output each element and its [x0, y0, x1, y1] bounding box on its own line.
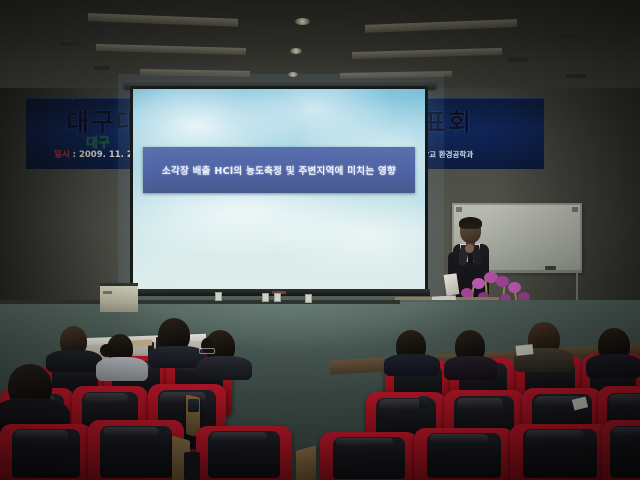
ceiling-speaker-icon — [295, 18, 310, 25]
orchid-bloom — [508, 282, 521, 293]
baseboard — [0, 300, 400, 304]
wall-shadow-left — [0, 88, 150, 313]
ceiling-vent — [94, 66, 110, 70]
ceiling-vent — [14, 12, 30, 16]
seat[interactable] — [510, 424, 610, 480]
orchid-bloom — [472, 278, 485, 289]
seat[interactable] — [414, 428, 514, 480]
audience-papers — [516, 344, 534, 356]
ceiling-light — [96, 44, 246, 55]
ceiling-vent — [508, 58, 528, 62]
seat[interactable] — [88, 420, 184, 480]
whiteboard-marker — [545, 266, 556, 270]
seat-highlight — [609, 394, 640, 406]
presenter-hair — [459, 217, 482, 229]
ceiling-speaker-icon — [290, 48, 302, 54]
ceiling-vent — [566, 74, 586, 78]
wall-outlet — [305, 294, 312, 303]
seat[interactable] — [602, 420, 640, 480]
orchid-bloom — [496, 276, 509, 287]
seat-highlight — [526, 430, 584, 439]
ceiling-light — [340, 71, 452, 79]
whiteboard-corner — [572, 207, 578, 212]
ceiling-light — [88, 13, 238, 27]
seat-tablet-arm[interactable] — [296, 445, 316, 480]
wall-outlet — [215, 292, 222, 301]
wall-outlet — [262, 293, 269, 302]
audience-hair-bun — [100, 344, 113, 357]
audience-glasses — [199, 348, 215, 354]
audience-shoulders — [384, 354, 440, 376]
projection-screen: 소각장 배출 HCl의 농도측정 및 주변지역에 미치는 영향 — [130, 86, 428, 292]
seat[interactable] — [0, 424, 92, 480]
ceiling-light — [352, 48, 502, 59]
seat-highlight — [430, 434, 488, 443]
slide-surface: 소각장 배출 HCl의 농도측정 및 주변지역에 미치는 영향 — [133, 89, 425, 289]
audience-shoulders — [586, 354, 640, 378]
radiator-label — [103, 291, 112, 294]
auditorium-presentation-photo: 대구대 대구 일시 : 2009. 11. 20(금) 발표회 표회 : 대구대… — [0, 0, 640, 480]
presenter-hand — [465, 244, 474, 253]
slide-title-bar: 소각장 배출 HCl의 농도측정 및 주변지역에 미치는 영향 — [143, 147, 415, 193]
seat-highlight — [84, 393, 128, 404]
ceiling-vent — [560, 34, 578, 38]
whiteboard-corner — [456, 207, 462, 212]
ceiling-vent — [58, 42, 80, 46]
audience-shoulders — [96, 357, 148, 381]
radiator-unit — [100, 283, 138, 312]
seat-highlight — [211, 432, 267, 441]
seat-highlight — [336, 438, 393, 446]
seat-highlight — [612, 427, 640, 437]
ceiling — [0, 0, 640, 92]
audience-shoulders — [196, 356, 252, 380]
seat[interactable] — [196, 426, 292, 480]
ceiling-light — [140, 69, 250, 77]
audience-shoulders — [444, 356, 498, 380]
seat[interactable] — [320, 432, 418, 480]
seat-highlight — [103, 427, 159, 437]
audience-shoulders — [46, 350, 102, 372]
mobile-phone[interactable] — [188, 399, 199, 412]
seat-highlight — [15, 430, 68, 439]
ceiling-speaker-icon — [288, 72, 298, 77]
wall-outlet — [274, 293, 281, 302]
table-papers — [132, 339, 152, 346]
seat-armrest — [184, 452, 200, 480]
seat-highlight — [457, 398, 503, 409]
ceiling-light — [365, 19, 517, 33]
slide-title-text: 소각장 배출 HCl의 농도측정 및 주변지역에 미치는 영향 — [162, 163, 396, 177]
mobile-phone[interactable] — [419, 396, 429, 408]
